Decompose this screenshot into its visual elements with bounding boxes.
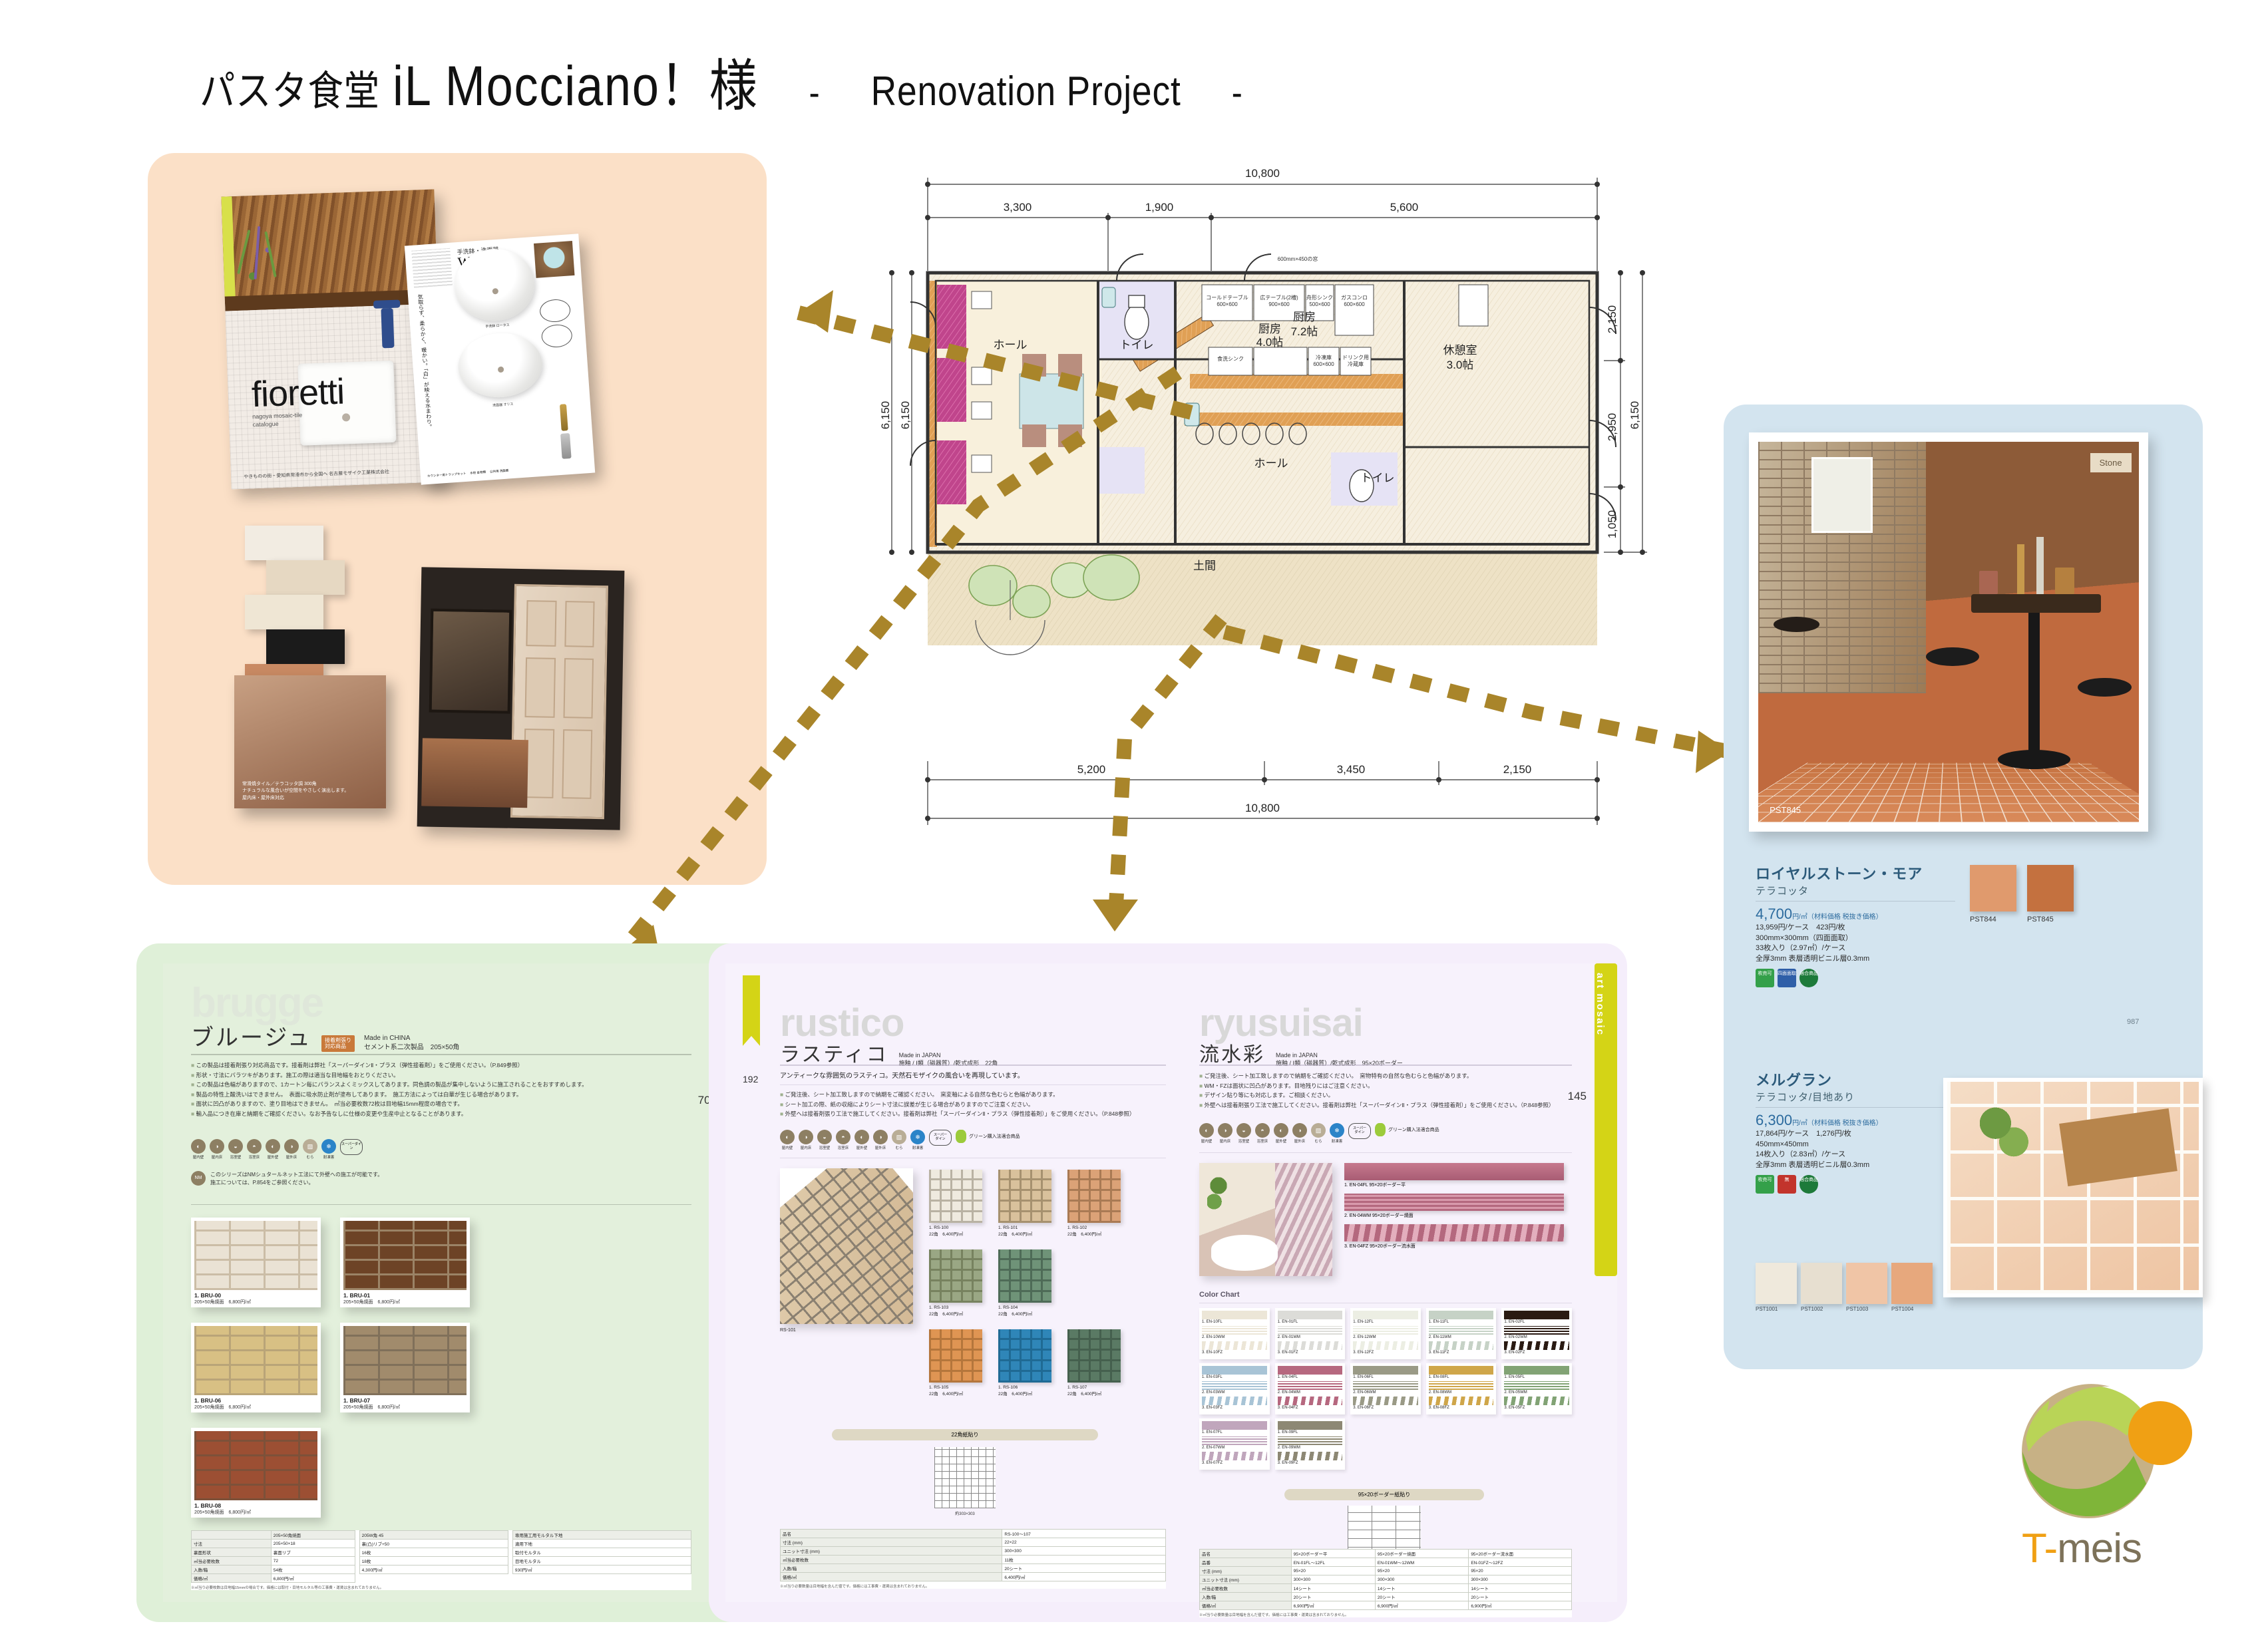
royal-stone-case: 13,959円/ケース 423円/枚 — [1756, 923, 2022, 933]
mirror — [429, 609, 512, 714]
svg-text:広テーブル(2槽): 広テーブル(2槽) — [1260, 294, 1298, 301]
room-label-hall-1: ホール — [994, 339, 1028, 351]
lavender-plant — [235, 224, 290, 289]
ryusuisai-hero-photo — [1199, 1163, 1332, 1276]
rustico-sheet-diagram — [934, 1447, 996, 1508]
dim-left-inner: 6,150 — [899, 401, 912, 430]
label-rs-100: 1. RS-10022角 6,400円/㎡ — [929, 1226, 963, 1237]
label-3EN-03FZ: 3. EN-03FZ — [1202, 1406, 1267, 1410]
icon-frost-resistant: ❄ — [321, 1139, 336, 1154]
melgran-swatch-row: PST1001 PST1002 PST1003 PST1004 — [1756, 1263, 1933, 1312]
swatch-1EN-09FL — [1278, 1421, 1343, 1430]
swatch-2EN-08WM — [1429, 1381, 1494, 1390]
label-3EN-01FZ: 3. EN-01FZ — [1278, 1351, 1343, 1355]
swatch-1EN-07FL — [1202, 1421, 1267, 1430]
icon-bath-floor: ◓ — [247, 1139, 262, 1154]
chip-rs-102 — [1067, 1170, 1121, 1223]
color-group-1EN-06FL: 1. EN-06FL2. EN-06WM3. EN-06FZ — [1350, 1363, 1421, 1414]
ryusuisai-spec-table: 品名95×20ボーダー平95×20ボーダー焼面95×20ボーダー流水面 品番EN… — [1199, 1549, 1572, 1617]
icon-piece-sale: 枚売可 — [1756, 969, 1774, 987]
swatch-2EN-07WM — [1202, 1436, 1267, 1445]
label-2EN-07WM: 2. EN-07WM — [1202, 1446, 1267, 1450]
chip-rs-104 — [998, 1249, 1051, 1303]
swatch-3EN-11FZ — [1429, 1341, 1494, 1350]
bar-photo-code: PST845 — [1770, 805, 1801, 815]
swatch-1EN-02FL — [1504, 1311, 1569, 1319]
color-group-1EN-08FL: 1. EN-08FL2. EN-08WM3. EN-08FZ — [1426, 1363, 1497, 1414]
room-area-kitchen-1: 7.2帖 — [1291, 325, 1318, 338]
ryusuisai-page-number: 145 — [1568, 1090, 1587, 1103]
chip-rs-103 — [929, 1249, 982, 1303]
icon-eco-compliant: 適合商品 — [1799, 969, 1818, 987]
bar-table-base — [1998, 750, 2070, 769]
logo-orange-dot — [2128, 1401, 2192, 1465]
label-1EN-01FL: 1. EN-01FL — [1278, 1320, 1343, 1324]
label-rs-102: 1. RS-10222角 6,400円/㎡ — [1067, 1226, 1101, 1237]
royal-stone-thick: 全厚3mm 表層透明ビニル層0.3mm — [1756, 954, 2022, 965]
brugge-bullet-1: この製品は接着剤張り対応商品です。接着剤は弊社「スーパーダインⅡ・プラス（弾性接… — [196, 1062, 524, 1069]
icon-eco-compliant-2: 適合商品 — [1799, 1175, 1818, 1194]
label-2EN-04WM: 2. EN-04WM — [1278, 1391, 1343, 1395]
dim-top-seg-3: 5,600 — [1390, 201, 1419, 214]
label-2EN-08WM: 2. EN-08WM — [1429, 1391, 1494, 1395]
royal-stone-pack: 33枚入り（2.97㎡）/ケース — [1756, 943, 2022, 954]
label-1EN-04FL: 1. EN-04FL — [1278, 1375, 1343, 1379]
label-3EN-12FZ: 3. EN-12FZ — [1353, 1351, 1418, 1355]
hero-caption-wm: 2. EN-04WM 95×20ボーダー焼面 — [1344, 1212, 1564, 1219]
stone-badge: Stone — [2090, 453, 2132, 472]
label-rs-101: 1. RS-10122角 6,400円/㎡ — [998, 1226, 1032, 1237]
chip-rs-101 — [998, 1170, 1051, 1223]
swatch-1EN-12FL — [1353, 1311, 1418, 1319]
bar-stool-3 — [2078, 678, 2131, 697]
label-1EN-11FL: 1. EN-11FL — [1429, 1320, 1494, 1324]
rustico-bullet-2: シート加工の際、紙の収縮によりシート寸法に誤差が生じる場合がありますのでご注意く… — [785, 1101, 1034, 1108]
brugge-badge: 接着剤張り 対応商品 — [321, 1035, 355, 1052]
ryusuisai-usage-icons: ◐屋内壁 ◑屋内床 ◒浴室壁 ◓浴室床 ◐屋外壁 ◑屋外床 ▨むら ❄耐凍害 ス… — [1199, 1123, 1448, 1144]
swatch-2EN-02WM — [1504, 1326, 1569, 1335]
royal-stone-price-unit: 円/㎡ — [1792, 913, 1807, 921]
chip-rs-107 — [1067, 1329, 1121, 1383]
ryusuisai-bullet-2: WM・FZは面状に凹凸があります。目地残りにはご注意ください。 — [1205, 1082, 1374, 1089]
swatch-1EN-03FL — [1202, 1366, 1267, 1375]
swatch-1EN-05FL — [1504, 1366, 1569, 1375]
ryusuisai-sheet-note: 95×20ボーダー紙貼り — [1284, 1489, 1484, 1500]
color-group-1EN-02FL: 1. EN-02FL2. EN-02WM3. EN-02FZ — [1501, 1308, 1572, 1359]
svg-text:冷凍庫: 冷凍庫 — [1316, 354, 1332, 361]
dim-right-total: 6,150 — [1628, 401, 1641, 430]
oval-basin-photo — [456, 331, 544, 401]
washroom-interior-photo — [417, 567, 625, 830]
chip-rs-100 — [929, 1170, 982, 1223]
label-rs-106: 1. RS-10622角 6,400円/㎡ — [998, 1385, 1032, 1397]
fioretti-logotype: fioretti — [251, 371, 345, 416]
label-1EN-09FL: 1. EN-09FL — [1278, 1430, 1343, 1434]
dim-left-total: 6,150 — [879, 401, 892, 430]
arrowhead-rustico — [1093, 900, 1138, 931]
rustico-lead: アンティークな雰囲気のラスティコ。天然石モザイクの風合いを再現しています。 — [780, 1070, 1024, 1080]
label-3EN-11FZ: 3. EN-11FZ — [1429, 1351, 1494, 1355]
swatch-2EN-12WM — [1353, 1326, 1418, 1335]
dim-bottom-seg-1: 5,200 — [1077, 763, 1106, 776]
basin-dimension-drawings — [539, 298, 578, 351]
brugge-bullet-5: 面状に凹凸がありますので、塗り目地はできません。 ㎡当必要枚数72枚は目地幅15… — [196, 1100, 463, 1107]
room-label-toilet-1: トイレ — [1120, 339, 1154, 351]
ryusuisai-bullet-4: 外壁へは接着剤張り工法で施工してください。接着剤は弊社「スーパーダインⅡ・プラス… — [1205, 1102, 1555, 1108]
sample-bru-07: 1. BRU-07 205×50角焼面 6,800円/㎡ — [340, 1323, 470, 1412]
melgran-price-unit: 円/㎡ — [1792, 1120, 1807, 1127]
dim-right-seg-3: 1,050 — [1606, 510, 1618, 539]
rustico-catalogue-page: rustico ラスティコ Made in JAPAN 施釉 / Ⅰ類（磁器質）… — [725, 963, 1185, 1602]
rustico-page-number: 192 — [743, 1074, 758, 1084]
svg-text:食洗シンク: 食洗シンク — [1217, 355, 1244, 362]
svg-text:ガスコンロ: ガスコンロ — [1341, 294, 1368, 301]
ryusuisai-origin: Made in JAPAN — [1276, 1052, 1318, 1059]
color-group-1EN-11FL: 1. EN-11FL2. EN-11WM3. EN-11FZ — [1426, 1308, 1497, 1359]
room-area-rest: 3.0帖 — [1447, 359, 1474, 371]
icon-bath-wall: ◒ — [228, 1139, 243, 1154]
logo-wordmark: T-meis — [2022, 1525, 2142, 1572]
hero-border-fz — [1344, 1224, 1564, 1241]
room-label-toilet-2: トイレ — [1361, 472, 1395, 484]
label-1EN-06FL: 1. EN-06FL — [1353, 1375, 1418, 1379]
swatch-2EN-06WM — [1353, 1381, 1418, 1390]
melgran-price-note: （材料価格 税抜き価格） — [1807, 1120, 1883, 1127]
brugge-origin: Made in CHINA — [364, 1035, 410, 1042]
terracotta-floor — [1758, 762, 2139, 822]
label-3EN-09FZ: 3. EN-09FZ — [1278, 1461, 1343, 1465]
green-purchase-icon — [956, 1130, 966, 1143]
color-group-1EN-07FL: 1. EN-07FL2. EN-07WM3. EN-07FZ — [1199, 1418, 1270, 1470]
brugge-spec-table: 205×50角焼面 寸法205×50×18 裏面形状裏面リブ ㎡当必要枚数72 … — [191, 1530, 691, 1590]
ryusuisai-bullet-3: デザイン貼り等にも対応します。ご相談ください。 — [1205, 1092, 1334, 1098]
wood-table — [2059, 1108, 2177, 1187]
royal-stone-price: 4,700 — [1756, 906, 1792, 922]
plan-thumbnail — [411, 248, 453, 288]
svg-text:600×600: 600×600 — [1313, 361, 1334, 367]
label-1EN-03FL: 1. EN-03FL — [1202, 1375, 1267, 1379]
label-1EN-02FL: 1. EN-02FL — [1504, 1320, 1569, 1324]
swatch-black — [266, 629, 345, 664]
rustico-jp-name: ラスティコ — [780, 1038, 888, 1067]
svg-text:舟形シンク: 舟形シンク — [1306, 294, 1333, 301]
footer-mid-caption: 水栓 金物類 — [470, 470, 486, 476]
color-group-1EN-03FL: 1. EN-03FL2. EN-03WM3. EN-03FZ — [1199, 1363, 1270, 1414]
rustico-bullet-1: ご発注後、シート加工致しますので納期をご確認ください。 窯変釉による自然な色むら… — [785, 1091, 1059, 1098]
swatch-1EN-06FL — [1353, 1366, 1418, 1375]
svg-text:900×600: 900×600 — [1268, 301, 1290, 307]
melgran-floor-photo — [1943, 1078, 2203, 1297]
swatch-2EN-03WM — [1202, 1381, 1267, 1390]
page-title: パスタ食堂 iL Mocciano！様 - Renovation Project… — [200, 41, 1243, 122]
bar-stool-2 — [1774, 617, 1819, 632]
vanity-counter — [421, 739, 528, 808]
swatch-1EN-01FL — [1278, 1311, 1343, 1319]
label-3EN-02FZ: 3. EN-02FZ — [1504, 1351, 1569, 1355]
brugge-net-note: このシリーズはNMシュタールネット工法にて外壁への施工が可能です。 施工について… — [210, 1171, 383, 1188]
hero-caption-fl: 1. EN-04FL 95×20ボーダー平 — [1344, 1182, 1564, 1188]
svg-text:ドリンク用: ドリンク用 — [1342, 355, 1369, 361]
color-group-1EN-04FL: 1. EN-04FL2. EN-04WM3. EN-04FZ — [1275, 1363, 1346, 1414]
color-group-1EN-01FL: 1. EN-01FL2. EN-01WM3. EN-01FZ — [1275, 1308, 1346, 1359]
brugge-jp-name: ブルージュ — [191, 1019, 312, 1052]
svg-text:コールドテーブル: コールドテーブル — [1206, 294, 1248, 301]
bottle-1 — [2017, 544, 2024, 593]
tmeis-logo: T-meis — [2010, 1377, 2209, 1590]
brugge-usage-icons: ◐屋内壁 ◑屋内床 ◒浴室壁 ◓浴室床 ◐屋外壁 ◑屋外床 ▨むら ❄耐凍害 ス… — [191, 1139, 363, 1160]
glass-1 — [1979, 571, 1998, 593]
dim-top-seg-2: 1,900 — [1145, 201, 1174, 214]
bottle-2 — [2036, 537, 2044, 594]
label-3EN-05FZ: 3. EN-05FZ — [1504, 1406, 1569, 1410]
label-3EN-04FZ: 3. EN-04FZ — [1278, 1406, 1343, 1410]
label-1EN-05FL: 1. EN-05FL — [1504, 1375, 1569, 1379]
swatch-pst844-code: PST844 — [1970, 915, 1996, 923]
royal-stone-price-note: （材料価格 税抜き価格） — [1807, 913, 1883, 921]
icon-net-method: NM — [191, 1171, 206, 1186]
label-3EN-10FZ: 3. EN-10FZ — [1202, 1351, 1267, 1355]
swatch-2EN-11WM — [1429, 1326, 1494, 1335]
label-2EN-09WM: 2. EN-09WM — [1278, 1446, 1343, 1450]
color-group-1EN-12FL: 1. EN-12FL2. EN-12WM3. EN-12FZ — [1350, 1308, 1421, 1359]
ryusuisai-bullet-1: ご発注後、シート加工致しますので納期をご確認ください。 窯物特有の自然な色むらと… — [1205, 1072, 1473, 1079]
label-2EN-11WM: 2. EN-11WM — [1429, 1335, 1494, 1339]
label-rs-103: 1. RS-10322角 6,400円/㎡ — [929, 1305, 963, 1317]
label-3EN-06FZ: 3. EN-06FZ — [1353, 1406, 1418, 1410]
swatch-1EN-04FL — [1278, 1366, 1343, 1375]
title-dash-right: - — [1232, 71, 1243, 113]
room-label-kitchen-1: 厨房 — [1293, 311, 1316, 323]
rustico-usage-icons: ◐屋内壁 ◑屋内床 ◒浴室壁 ◓浴室床 ◐屋外壁 ◑屋外床 ▨むら ❄耐凍害 ス… — [780, 1130, 1029, 1150]
color-group-1EN-09FL: 1. EN-09FL2. EN-09WM3. EN-09FZ — [1275, 1418, 1346, 1470]
swatch-3EN-05FZ — [1504, 1397, 1569, 1405]
swatch-1EN-10FL — [1202, 1311, 1267, 1319]
swatch-2EN-05WM — [1504, 1381, 1569, 1390]
brugge-bullet-6: 輸入品につき在庫と納期をご確認ください。なお予告なしに仕様の変更や生産中止となる… — [196, 1110, 467, 1117]
swatch-3EN-03FZ — [1202, 1397, 1267, 1405]
icon-piece-sale-2: 枚売可 — [1756, 1175, 1774, 1194]
brugge-bullet-4: 製品の特性上酸洗いはできません。 表面に吸水防止剤が塗布してあります。 施工方法… — [196, 1091, 522, 1098]
icon-outdoor-floor: ◑ — [284, 1139, 299, 1154]
sample-bru-01: 1. BRU-01 205×50角焼面 6,800円/㎡ — [340, 1218, 470, 1307]
swatch-3EN-10FZ — [1202, 1341, 1267, 1350]
dim-top-seg-1: 3,300 — [1004, 201, 1032, 214]
chip-rs-105 — [929, 1329, 982, 1383]
blue-board-side-page: 987 — [2127, 1018, 2139, 1026]
label-2EN-01WM: 2. EN-01WM — [1278, 1335, 1343, 1339]
title-jp-prefix: パスタ食堂 — [200, 69, 380, 114]
royal-stone-size: 300mm×300mm（四面面取） — [1756, 933, 2022, 944]
room-label-doma: 土間 — [1193, 560, 1216, 572]
dim-bottom-total: 10,800 — [1245, 802, 1280, 814]
dim-bottom-seg-3: 2,150 — [1503, 763, 1532, 776]
dim-top-total: 10,800 — [1245, 167, 1280, 180]
label-3EN-07FZ: 3. EN-07FZ — [1202, 1461, 1267, 1465]
rustico-table-footnote: ※㎡当り必要数量は目地幅を含んだ値です。価格には工事費・運賃は含まれておりません… — [780, 1583, 1166, 1589]
blue-faucet — [381, 308, 394, 349]
chip-rs-106 — [998, 1329, 1051, 1383]
swatch-2EN-01WM — [1278, 1326, 1343, 1335]
title-dash-left: - — [809, 71, 821, 113]
footer-right-caption: 公共用 洗面器 — [490, 469, 509, 475]
swatch-1EN-08FL — [1429, 1366, 1494, 1375]
faucet-photos — [545, 403, 585, 462]
arrowhead-bathroom — [799, 290, 833, 333]
label-2EN-05WM: 2. EN-05WM — [1504, 1391, 1569, 1395]
fioretti-cover-subcaption: nagoya mosaic-tile catalogue — [252, 411, 303, 428]
icon-color-variation: ▨ — [303, 1139, 317, 1154]
room-label-kitchen-2b: 厨房 — [1258, 323, 1281, 335]
swatch-3EN-07FZ — [1202, 1452, 1267, 1460]
sample-bru-00: 1. BRU-00 205×50角焼面 6,800円/㎡ — [191, 1218, 321, 1307]
hero-border-fl — [1344, 1163, 1564, 1180]
color-group-1EN-10FL: 1. EN-10FL2. EN-10WM3. EN-10FZ — [1199, 1308, 1270, 1359]
room-label-hall-2: ホール — [1254, 457, 1288, 470]
swatch-pst845 — [2027, 865, 2074, 911]
bar-table-column — [2028, 613, 2040, 757]
swatch-2EN-04WM — [1278, 1381, 1343, 1390]
room-area-kitchen-2: 4.0帖 — [1256, 336, 1284, 349]
spread-vertical-copy: 気取らず、柔らかく、暖かい。「白」が映える水まわり。 — [416, 294, 433, 430]
swatch-ivory — [245, 595, 323, 629]
swatch-3EN-06FZ — [1353, 1397, 1418, 1405]
title-brand: iL Mocciano！様 — [393, 55, 759, 117]
brugge-catalogue-page: brugge ブルージュ 接着剤張り 対応商品 Made in CHINA セメ… — [163, 963, 749, 1602]
label-1EN-07FL: 1. EN-07FL — [1202, 1430, 1267, 1434]
color-group-1EN-05FL: 1. EN-05FL2. EN-05WM3. EN-05FZ — [1501, 1363, 1572, 1414]
label-rs-105: 1. RS-10522角 6,400円/㎡ — [929, 1385, 963, 1397]
hero-caption-fz: 3. EN-04FZ 95×20ボーダー流水面 — [1344, 1243, 1564, 1249]
swatch-3EN-08FZ — [1429, 1397, 1494, 1405]
brugge-material: セメント系二次製品 205×50角 — [364, 1044, 459, 1051]
water-basin-catalogue-page: 手洗鉢・洗面器 WATER BASIN /BASIN 2 ブランカ 気取らず、柔… — [405, 234, 595, 484]
terracotta-tile-sample-card: 常滑焼タイル／テラコッタ調 300角 ナチュラルな風合いが空間をやさしく演出しま… — [234, 675, 386, 808]
svg-text:冷蔵庫: 冷蔵庫 — [1348, 361, 1364, 367]
icon-outdoor-wall: ◐ — [266, 1139, 280, 1154]
basin-thumbnail-photo — [534, 241, 574, 278]
swatch-beige — [266, 560, 345, 595]
label-2EN-03WM: 2. EN-03WM — [1202, 1391, 1267, 1395]
swatch-pst845-code: PST845 — [2027, 915, 2054, 923]
floor-plan: 10,800 3,300 1,900 5,600 — [872, 154, 1657, 880]
dim-right-seg-2: 2,950 — [1606, 413, 1618, 442]
rustico-origin: Made in JAPAN — [899, 1052, 941, 1059]
label-1EN-10FL: 1. EN-10FL — [1202, 1320, 1267, 1324]
sample-bru-08: 1. BRU-08 205×50角焼面 6,800円/㎡ — [191, 1428, 321, 1518]
bar-interior-photo: Stone PST845 — [1749, 432, 2148, 832]
glass-2 — [2055, 568, 2074, 594]
icon-no-chamfer: 無 — [1778, 1175, 1796, 1194]
swatch-2EN-09WM — [1278, 1436, 1343, 1445]
ryusuisai-colorchart-title: Color Chart — [1199, 1291, 1240, 1299]
swatch-3EN-01FZ — [1278, 1341, 1343, 1350]
swatch-3EN-02FZ — [1504, 1341, 1569, 1350]
dim-right-seg-1: 2,150 — [1606, 305, 1618, 334]
icon-superdyne: スーパーダイン — [340, 1139, 363, 1155]
hero-border-wm — [1344, 1194, 1564, 1211]
label-2EN-12WM: 2. EN-12WM — [1353, 1335, 1418, 1339]
rustico-bullet-3: 外壁へは接着剤張り工法で施工してください。接着剤は弊社「スーパーダインⅡ・プラス… — [785, 1110, 1135, 1117]
sample-bru-06: 1. BRU-06 205×50角焼面 6,800円/㎡ — [191, 1323, 321, 1412]
swatch-2EN-10WM — [1202, 1326, 1267, 1335]
framed-art — [1811, 457, 1873, 533]
label-2EN-02WM: 2. EN-02WM — [1504, 1335, 1569, 1339]
icon-four-side-chamfer: 四面面取 — [1778, 969, 1796, 987]
brugge-bullet-3: この製品は色幅がありますので、1カートン毎にバランスよくミックスしてあります。同… — [196, 1081, 588, 1088]
swatch-cream — [245, 526, 323, 560]
label-1EN-12FL: 1. EN-12FL — [1353, 1320, 1418, 1324]
bar-table-top — [1971, 594, 2100, 613]
brugge-table-footnote: ※㎡当り必要枚数は目地幅15mmの場合です。価格には取付・目地モルタル等の工事費… — [191, 1585, 691, 1590]
svg-text:600×600: 600×600 — [1217, 301, 1238, 307]
rustico-bookmark-tab — [743, 975, 760, 1046]
melgran-price: 6,300 — [1756, 1112, 1792, 1128]
ryusuisai-jp-name: 流水彩 — [1199, 1038, 1265, 1067]
rustico-sheet-note: 22角紙貼り — [832, 1429, 1098, 1440]
svg-text:500×600: 500×600 — [1309, 301, 1330, 307]
rustico-hero-sample — [780, 1168, 913, 1324]
rustico-sheet-dim: 約303×303 — [832, 1510, 1098, 1516]
swatch-1EN-11FL — [1429, 1311, 1494, 1319]
potted-greenery — [1967, 1094, 2038, 1166]
label-2EN-06WM: 2. EN-06WM — [1353, 1391, 1418, 1395]
title-subtitle: Renovation Project — [871, 69, 1181, 114]
rustico-green-note: グリーン購入法適合商品 — [969, 1133, 1020, 1140]
icon-indoor-floor: ◑ — [210, 1139, 224, 1154]
icon-indoor-wall: ◐ — [191, 1139, 206, 1154]
ryusuisai-table-footnote: ※㎡当り必要数量は目地幅を含んだ値です。価格には工事費・運賃は含まれておりません… — [1199, 1612, 1572, 1617]
rustico-hero-code: RS-101 — [780, 1328, 796, 1333]
rustico-spec-table: 品名RS-100～107 寸法 (mm)22×22 ユニット寸法 (mm)300… — [780, 1529, 1166, 1589]
room-label-rest: 休憩室 — [1443, 344, 1477, 357]
green-purchase-icon-2 — [1375, 1123, 1386, 1136]
label-1EN-08FL: 1. EN-08FL — [1429, 1375, 1494, 1379]
svg-text:600×600: 600×600 — [1344, 301, 1365, 307]
label-2EN-10WM: 2. EN-10WM — [1202, 1335, 1267, 1339]
tile-card-caption: 常滑焼タイル／テラコッタ調 300角 ナチュラルな風合いが空間をやさしく演出しま… — [242, 781, 378, 802]
label-rs-107: 1. RS-10722角 6,400円/㎡ — [1067, 1385, 1101, 1397]
brugge-bullet-2: 形状・寸法にバラツキがあります。施工の際は適当な目地幅をおとりください。 — [196, 1072, 399, 1078]
bar-stool-1 — [1926, 647, 1979, 667]
label-3EN-08FZ: 3. EN-08FZ — [1429, 1406, 1494, 1410]
ryusuisai-color-chart: 1. EN-10FL2. EN-10WM3. EN-10FZ1. EN-01FL… — [1199, 1308, 1572, 1470]
ryusuisai-side-tab: art mosaic — [1595, 963, 1617, 1276]
label-rs-104: 1. RS-10422角 6,400円/㎡ — [998, 1305, 1032, 1317]
swatch-3EN-04FZ — [1278, 1397, 1343, 1405]
swatch-pst844 — [1970, 865, 2016, 911]
swatch-3EN-12FZ — [1353, 1341, 1418, 1350]
dim-bottom-seg-2: 3,450 — [1337, 763, 1366, 776]
swatch-3EN-09FZ — [1278, 1452, 1343, 1460]
ryusuisai-green-note: グリーン購入法適合商品 — [1388, 1126, 1439, 1133]
ryusuisai-catalogue-page: ryusuisai 流水彩 Made in JAPAN 施釉 / Ⅰ類（磁器質）… — [1185, 963, 1617, 1602]
plan-window-note: 600mm×450の窓 — [1278, 255, 1318, 262]
footer-left-caption: カウンター用トラップセット — [427, 472, 467, 479]
